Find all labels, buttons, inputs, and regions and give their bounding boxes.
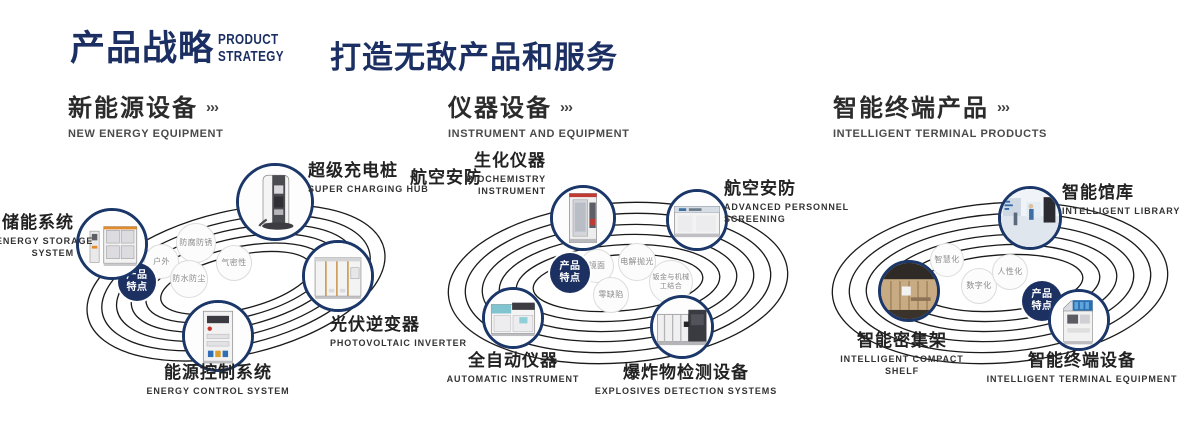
node-caption-smart-library: 智能馆库 INTELLIGENT LIBRARY (1062, 183, 1180, 217)
section-title-cn-text: 仪器设备 (448, 95, 552, 122)
feature-bubble: 零缺陷 (593, 277, 629, 313)
feature-bubble-label: 户外 (153, 257, 170, 267)
section-title-cn: 仪器设备››› (448, 94, 629, 123)
node-caption-automatic-instrument: 全自动仪器 AUTOMATIC INSTRUMENT (430, 351, 596, 385)
node-caption-en: ENERGY STORAGESYSTEM (0, 235, 74, 259)
chevrons-right-icon: ››› (206, 94, 218, 122)
node-caption-cn: 智能馆库 (1062, 183, 1180, 203)
product-features-badge: 产品 特点 (550, 253, 590, 293)
feature-bubble-label: 零缺陷 (598, 290, 623, 300)
page-title-english: PRODUCT STRATEGY (218, 31, 284, 65)
section-title-en: NEW ENERGY EQUIPMENT (68, 128, 223, 140)
feature-bubble: 智慧化 (930, 243, 964, 277)
feature-bubble-label: 气密性 (221, 258, 246, 268)
section-header-instrument: 仪器设备››› INSTRUMENT AND EQUIPMENT (448, 94, 629, 140)
cluster-intelligent-terminal: 智慧化 数字化 人性化 产品 特点 智能馆 (800, 155, 1200, 405)
feature-bubble: 气密性 (216, 245, 252, 281)
page-subtitle: 打造无敌产品和服务 (330, 32, 618, 77)
feature-bubble-label: 人性化 (997, 267, 1022, 277)
pv-inverter-icon (305, 243, 371, 309)
node-caption-en: INTELLIGENT TERMINAL EQUIPMENT (964, 373, 1200, 385)
node-smart-library[interactable] (998, 186, 1062, 250)
page-header: 产品战略 PRODUCT STRATEGY 打造无敌产品和服务 (0, 0, 1200, 88)
section-header-intelligent-terminal: 智能终端产品››› INTELLIGENT TERMINAL PRODUCTS (833, 94, 1047, 140)
automatic-instrument-icon (485, 290, 541, 346)
feature-bubble-label: 数字化 (966, 281, 991, 291)
feature-bubble: 防水防尘 (170, 260, 208, 298)
node-caption-en: EXPLOSIVES DETECTION SYSTEMS (578, 385, 794, 397)
node-caption-energy-storage: 储能系统 ENERGY STORAGESYSTEM (0, 213, 74, 259)
section-title-cn-text: 智能终端产品 (833, 95, 989, 122)
cluster-instrument: 镜面 电解抛光 钣金与机械工结合 零缺陷 产品 特点 航空安防 (418, 155, 818, 405)
feature-bubble: 防腐防锈 (176, 223, 216, 263)
node-caption-biochemistry-instrument: 生化仪器 BIOCHEMISTRYINSTRUMENT (424, 151, 546, 197)
node-charging-hub[interactable] (236, 163, 314, 241)
feature-bubble-label: 镜面 (589, 261, 606, 271)
node-caption-energy-control: 能源控制系统 ENERGY CONTROL SYSTEM (88, 363, 348, 397)
product-features-badge-line2: 特点 (560, 273, 581, 285)
feature-bubble-label: 防水防尘 (172, 274, 206, 284)
section-header-new-energy: 新能源设备››› NEW ENERGY EQUIPMENT (68, 94, 223, 140)
node-caption-explosives-detection: 爆炸物检测设备 EXPLOSIVES DETECTION SYSTEMS (578, 363, 794, 397)
node-pv-inverter[interactable] (302, 240, 374, 312)
node-caption-cn: 智能终端设备 (964, 351, 1200, 371)
biochemistry-analyzer-icon (553, 188, 613, 248)
node-caption-en: ENERGY CONTROL SYSTEM (88, 385, 348, 397)
control-cabinet-icon (185, 303, 251, 369)
node-biochemistry-instrument[interactable] (550, 185, 616, 251)
node-energy-control[interactable] (182, 300, 254, 372)
feature-bubble-label: 智慧化 (934, 255, 959, 265)
charging-pile-icon (239, 166, 311, 238)
product-features-badge-line1: 产品 (1032, 289, 1053, 301)
node-caption-cn: 智能密集架 (792, 331, 1012, 351)
node-caption-en: INTELLIGENT LIBRARY (1062, 205, 1180, 217)
node-caption-cn: 爆炸物检测设备 (578, 363, 794, 383)
section-title-cn-text: 新能源设备 (68, 95, 198, 122)
page-title-english-line1: PRODUCT (218, 31, 284, 48)
feature-bubble-label: 钣金与机械工结合 (650, 273, 692, 291)
compact-shelf-icon (881, 263, 937, 319)
node-automatic-instrument[interactable] (482, 287, 544, 349)
node-caption-en: AUTOMATIC INSTRUMENT (430, 373, 596, 385)
section-title-cn: 新能源设备››› (68, 94, 223, 123)
node-smart-terminal[interactable] (1048, 289, 1110, 351)
section-title-en: INSTRUMENT AND EQUIPMENT (448, 128, 629, 140)
section-title-en: INTELLIGENT TERMINAL PRODUCTS (833, 128, 1047, 140)
node-caption-smart-terminal: 智能终端设备 INTELLIGENT TERMINAL EQUIPMENT (964, 351, 1200, 385)
cluster-new-energy: 防腐防锈 户外 防水防尘 气密性 产品 特点 储能系 (40, 155, 440, 405)
product-strategy-infographic: 产品战略 PRODUCT STRATEGY 打造无敌产品和服务 新能源设备›››… (0, 0, 1200, 422)
product-features-badge-line1: 产品 (560, 261, 581, 273)
feature-bubble-label: 电解抛光 (620, 257, 654, 267)
page-title: 产品战略 (70, 28, 214, 70)
chevrons-right-icon: ››› (997, 94, 1009, 122)
explosives-detector-icon (653, 298, 711, 356)
screening-machine-icon (669, 192, 725, 248)
product-features-badge-line2: 特点 (127, 282, 148, 294)
feature-bubble: 人性化 (992, 254, 1028, 290)
node-caption-cn: 全自动仪器 (430, 351, 596, 371)
feature-bubble-label: 防腐防锈 (179, 238, 213, 248)
node-caption-cn: 生化仪器 (424, 151, 546, 171)
section-title-cn: 智能终端产品››› (833, 94, 1047, 123)
node-compact-shelf[interactable] (878, 260, 940, 322)
chevrons-right-icon: ››› (560, 94, 572, 122)
page-title-english-line2: STRATEGY (218, 48, 284, 65)
smart-library-icon (1001, 189, 1059, 247)
node-caption-cn: 能源控制系统 (88, 363, 348, 383)
smart-kiosk-icon (1051, 292, 1107, 348)
node-caption-en: BIOCHEMISTRYINSTRUMENT (424, 173, 546, 197)
node-aviation-screening[interactable] (666, 189, 728, 251)
node-explosives-detection[interactable] (650, 295, 714, 359)
node-caption-cn: 储能系统 (0, 213, 74, 233)
